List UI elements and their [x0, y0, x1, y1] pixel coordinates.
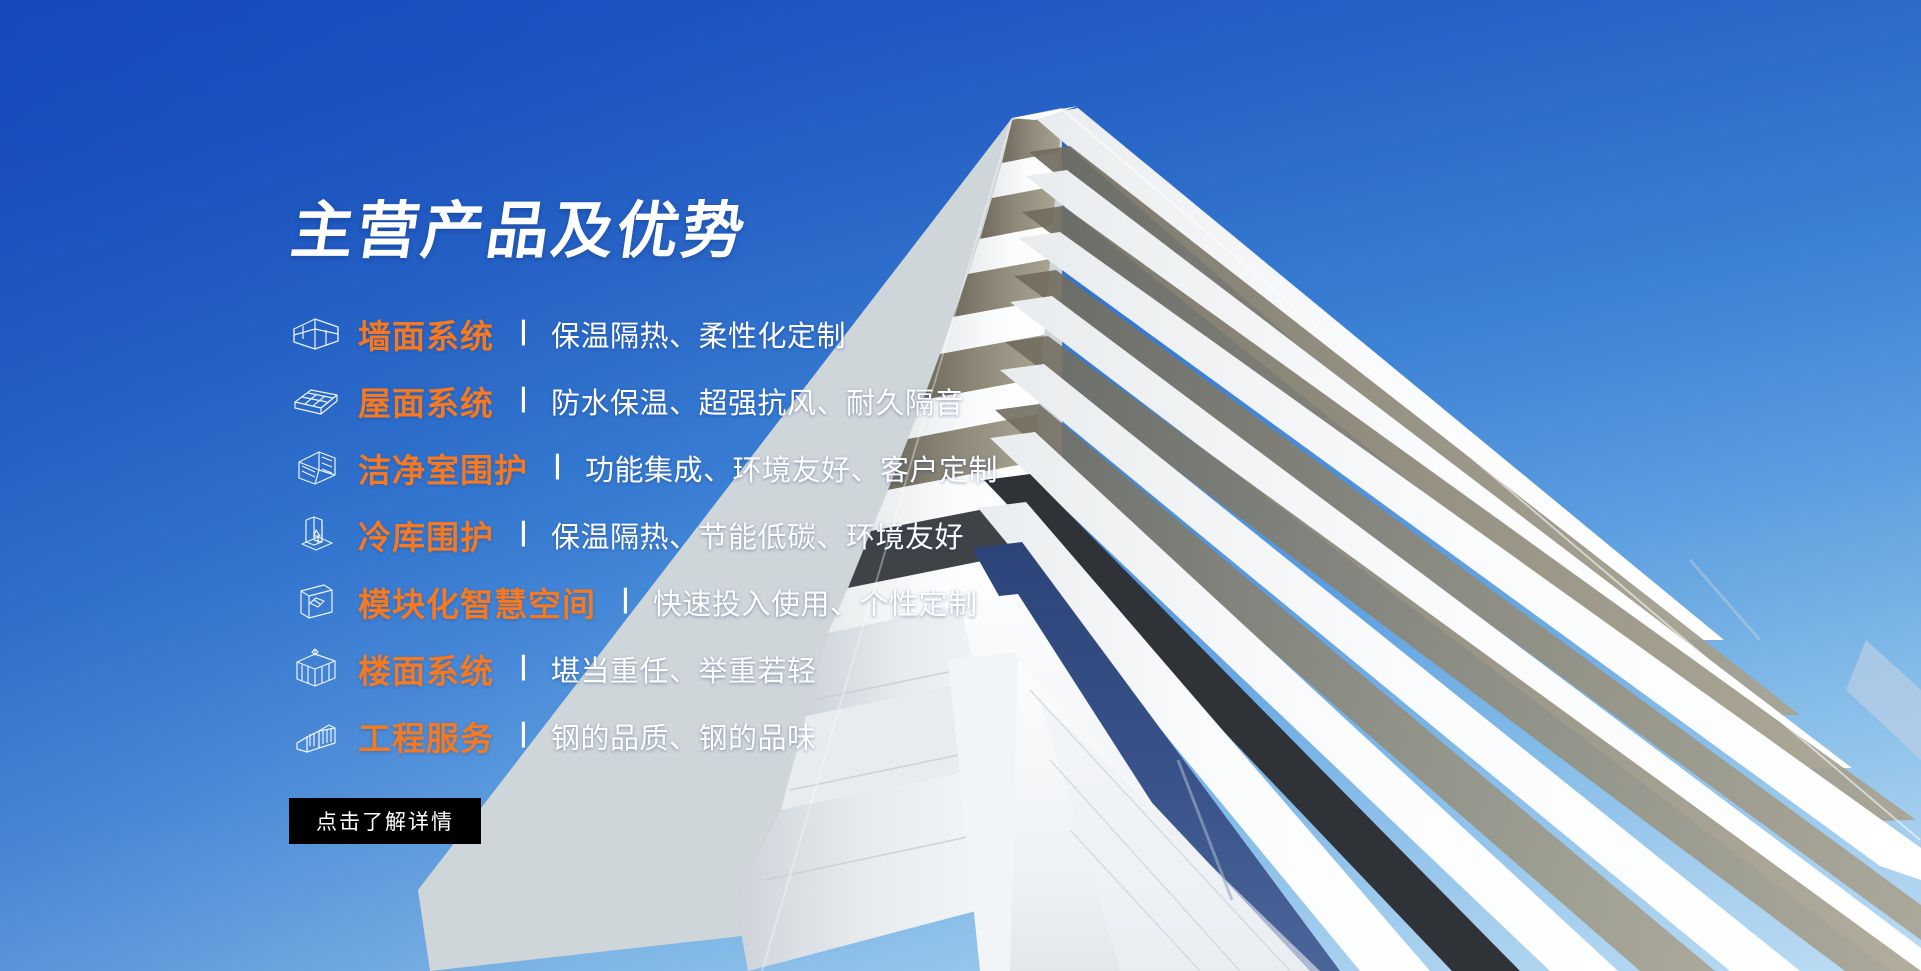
- cold-storage-row[interactable]: 冷库围护 丨 保温隔热、节能低碳、环境友好: [288, 501, 1288, 568]
- product-name: 洁净室围护: [358, 444, 528, 492]
- cold-storage-icon: [288, 512, 344, 558]
- list-item[interactable]: 工程服务 丨 钢的品质、钢的品味: [288, 702, 1288, 769]
- list-item[interactable]: 屋面系统 丨 防水保温、超强抗风、耐久隔音: [288, 367, 1288, 434]
- product-desc: 保温隔热、柔性化定制: [551, 313, 846, 355]
- page-title: 主营产品及优势: [288, 200, 752, 262]
- list-item[interactable]: 楼面系统 丨 堪当重任、举重若轻: [288, 635, 1288, 702]
- product-desc: 堪当重任、举重若轻: [551, 648, 817, 690]
- product-name: 屋面系统: [358, 377, 494, 425]
- product-desc: 快速投入使用、个性定制: [653, 581, 978, 623]
- separator: 丨: [510, 513, 537, 552]
- floor-system-icon: [288, 646, 344, 692]
- learn-more-button[interactable]: 点击了解详情: [289, 798, 481, 844]
- list-item[interactable]: 洁净室围护 丨 功能集成、环境友好、客户定制: [288, 434, 1288, 501]
- product-name: 楼面系统: [358, 645, 494, 693]
- hero-content: 主营产品及优势 墙面系统 丨 保温隔热、柔性化定: [288, 0, 1288, 971]
- product-desc: 保温隔热、节能低碳、环境友好: [551, 514, 964, 556]
- wall-system-icon: [288, 311, 344, 357]
- cleanroom-icon: [288, 445, 344, 491]
- product-desc: 钢的品质、钢的品味: [551, 715, 817, 757]
- separator: 丨: [544, 446, 571, 485]
- product-name: 模块化智慧空间: [358, 578, 596, 626]
- separator: 丨: [510, 714, 537, 753]
- list-item[interactable]: 墙面系统 丨 保温隔热、柔性化定制: [288, 300, 1288, 367]
- separator: 丨: [510, 312, 537, 351]
- separator: 丨: [612, 580, 639, 619]
- modular-space-icon: [288, 579, 344, 625]
- roof-system-icon: [288, 378, 344, 424]
- product-list: 墙面系统 丨 保温隔热、柔性化定制 屋面系统: [288, 300, 1288, 769]
- product-name: 墙面系统: [358, 310, 494, 358]
- product-name: 冷库围护: [358, 511, 494, 559]
- product-name: 工程服务: [358, 712, 494, 760]
- product-desc: 功能集成、环境友好、客户定制: [585, 447, 998, 489]
- separator: 丨: [510, 379, 537, 418]
- list-item[interactable]: 模块化智慧空间 丨 快速投入使用、个性定制: [288, 568, 1288, 635]
- separator: 丨: [510, 647, 537, 686]
- product-desc: 防水保温、超强抗风、耐久隔音: [551, 380, 964, 422]
- hero-banner: 主营产品及优势 墙面系统 丨 保温隔热、柔性化定: [0, 0, 1921, 971]
- engineering-service-icon: [288, 713, 344, 759]
